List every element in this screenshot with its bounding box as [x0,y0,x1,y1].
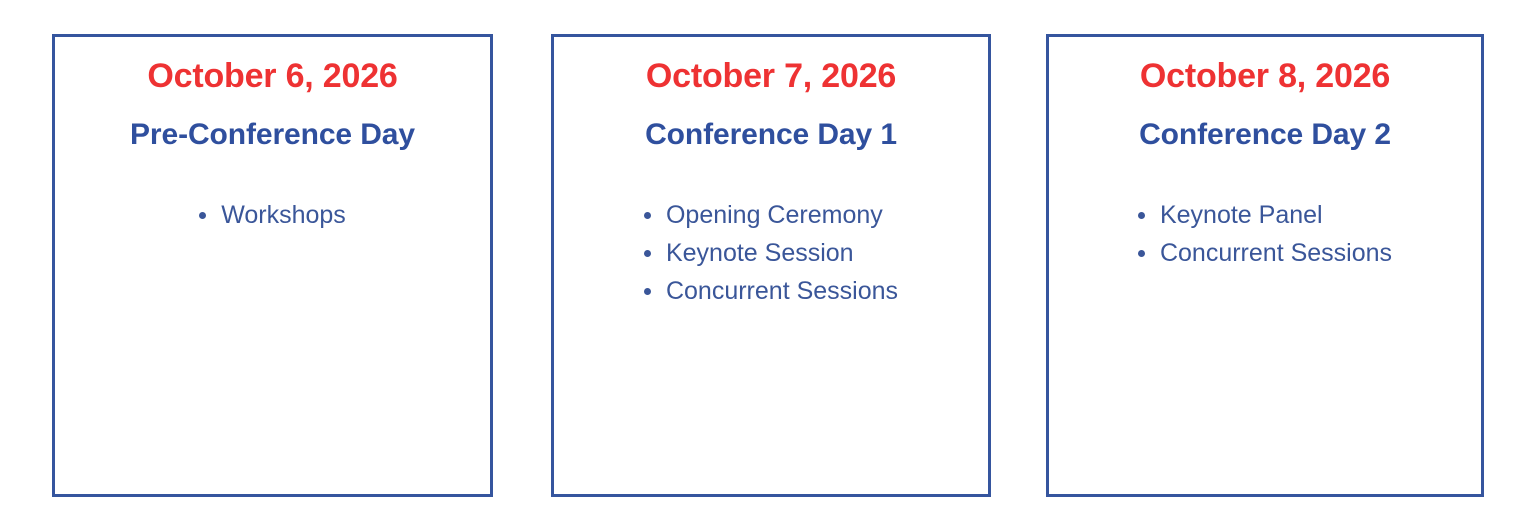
bullet-dot-icon [1138,250,1145,257]
list-item: Workshops [199,196,346,234]
day-card-3[interactable]: October 8, 2026 Conference Day 2 Keynote… [1046,34,1484,497]
card-subtitle: Pre-Conference Day [130,120,415,150]
list-item: Concurrent Sessions [1138,234,1392,272]
list-item: Keynote Session [644,234,898,272]
session-label: Workshops [221,201,346,229]
schedule-board: October 6, 2026 Pre-Conference Day Works… [0,0,1536,512]
session-label: Keynote Session [666,239,854,267]
bullet-dot-icon [644,212,651,219]
card-date: October 8, 2026 [1140,59,1390,93]
list-item: Keynote Panel [1138,196,1392,234]
bullet-dot-icon [644,288,651,295]
list-item: Concurrent Sessions [644,272,898,310]
list-item: Opening Ceremony [644,196,898,234]
bullet-dot-icon [199,212,206,219]
session-list: Workshops [199,196,346,234]
session-label: Keynote Panel [1160,201,1323,229]
day-card-1[interactable]: October 6, 2026 Pre-Conference Day Works… [52,34,493,497]
card-date: October 6, 2026 [147,59,397,93]
card-subtitle: Conference Day 2 [1139,120,1391,150]
card-date: October 7, 2026 [646,59,896,93]
bullet-dot-icon [1138,212,1145,219]
session-label: Concurrent Sessions [1160,239,1392,267]
session-label: Opening Ceremony [666,201,883,229]
session-list: Opening Ceremony Keynote Session Concurr… [644,196,898,310]
session-label: Concurrent Sessions [666,277,898,305]
day-card-2[interactable]: October 7, 2026 Conference Day 1 Opening… [551,34,991,497]
session-list: Keynote Panel Concurrent Sessions [1138,196,1392,272]
card-body: Workshops [55,196,490,234]
card-subtitle: Conference Day 1 [645,120,897,150]
card-body: Keynote Panel Concurrent Sessions [1049,196,1481,272]
card-body: Opening Ceremony Keynote Session Concurr… [554,196,988,310]
bullet-dot-icon [644,250,651,257]
